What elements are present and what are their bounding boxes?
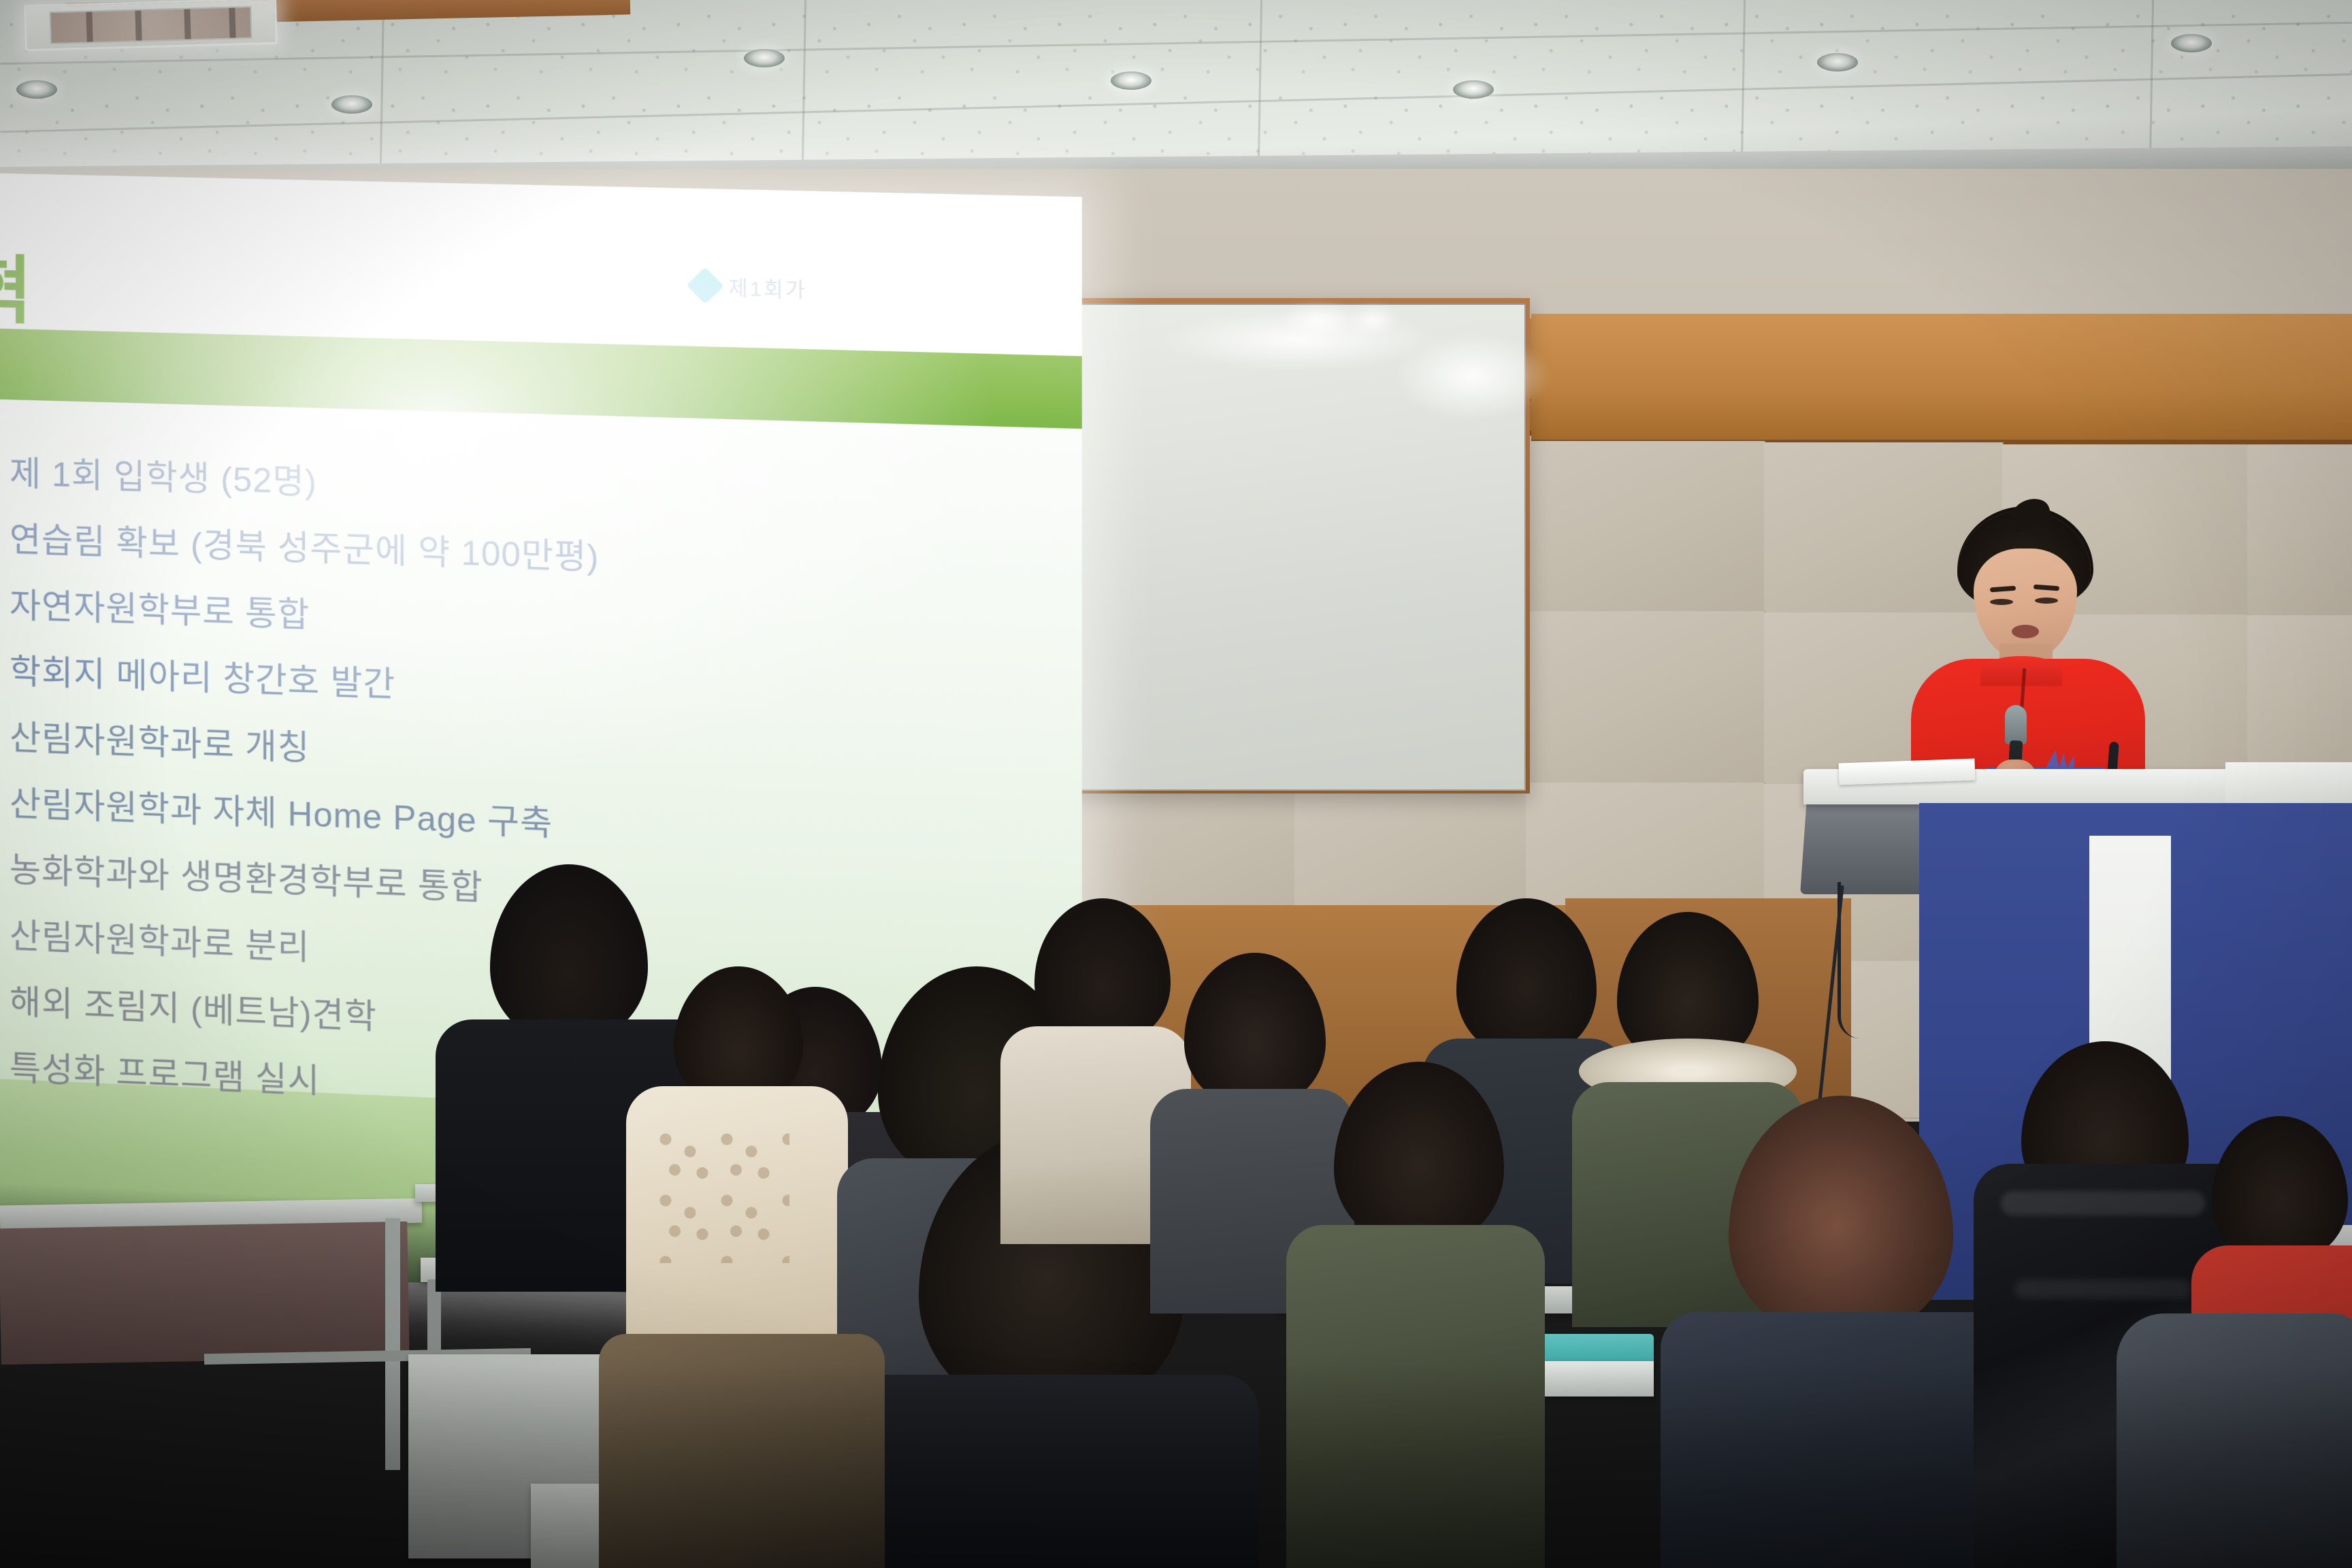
desk-front-panel <box>0 1222 410 1365</box>
knit-pattern <box>653 1127 789 1263</box>
fluorescent-light-fixture <box>24 0 278 51</box>
recessed-downlight <box>16 80 57 99</box>
diamond-icon <box>686 267 724 304</box>
audience-member <box>599 1334 885 1568</box>
recessed-downlight <box>1817 53 1858 71</box>
recessed-downlight <box>744 49 785 67</box>
head <box>1334 1062 1504 1247</box>
bullet-marker <box>0 1011 10 1013</box>
presenter <box>1878 510 2164 796</box>
bullet-marker <box>0 615 10 617</box>
whiteboard <box>1073 304 1526 791</box>
bullet-marker <box>0 813 10 815</box>
audience-member <box>1286 1062 1545 1565</box>
lecture-hall-photo: 혁 제1회가 제 1회 입학생 (52명) 연습림 확보 (경북 성주군에 약 … <box>0 0 2352 1568</box>
presenter-mouth <box>2012 625 2039 638</box>
bullet-marker <box>0 681 10 683</box>
desk-leg <box>385 1218 400 1470</box>
slide-logo-text: 제1회가 <box>728 271 807 304</box>
bullet-text: 제 1회 입학생 (52명) <box>10 446 317 504</box>
head <box>2212 1116 2348 1263</box>
head <box>1729 1096 1953 1338</box>
podium-top-surface-right <box>2225 762 2352 804</box>
torso <box>837 1375 1259 1568</box>
slide-logo: 제1회가 <box>691 270 806 304</box>
recessed-downlight <box>1111 71 1151 90</box>
head <box>490 864 648 1043</box>
torso <box>599 1334 885 1568</box>
bullet-marker <box>0 1077 10 1079</box>
light-diffuser <box>49 6 252 44</box>
slide-title: 혁 <box>0 252 33 328</box>
bullet-marker <box>0 549 10 551</box>
audience-member <box>1688 1096 1980 1568</box>
torso <box>2117 1313 2352 1568</box>
torso <box>626 1086 848 1345</box>
torso <box>1286 1225 1545 1568</box>
bullet-marker <box>0 945 10 947</box>
recessed-downlight <box>1453 80 1494 99</box>
wood-wall-trim-right <box>1531 314 2352 444</box>
slide-header-area <box>0 173 1082 357</box>
recessed-downlight <box>2171 34 2212 52</box>
bullet-text: 자연자원학부로 통합 <box>10 578 310 636</box>
audience-member <box>2117 1313 2352 1568</box>
bullet-marker <box>0 879 10 881</box>
bullet-marker <box>0 747 10 749</box>
torso <box>1661 1312 2014 1568</box>
audience-member <box>626 966 851 1347</box>
recessed-downlight <box>331 95 372 114</box>
ceiling <box>0 0 2352 174</box>
bullet-marker <box>0 483 10 485</box>
ceiling-tile-texture <box>0 0 2352 174</box>
microphone-head <box>2005 705 2027 745</box>
bullet-text: 산림자원학과로 개칭 <box>10 710 310 770</box>
